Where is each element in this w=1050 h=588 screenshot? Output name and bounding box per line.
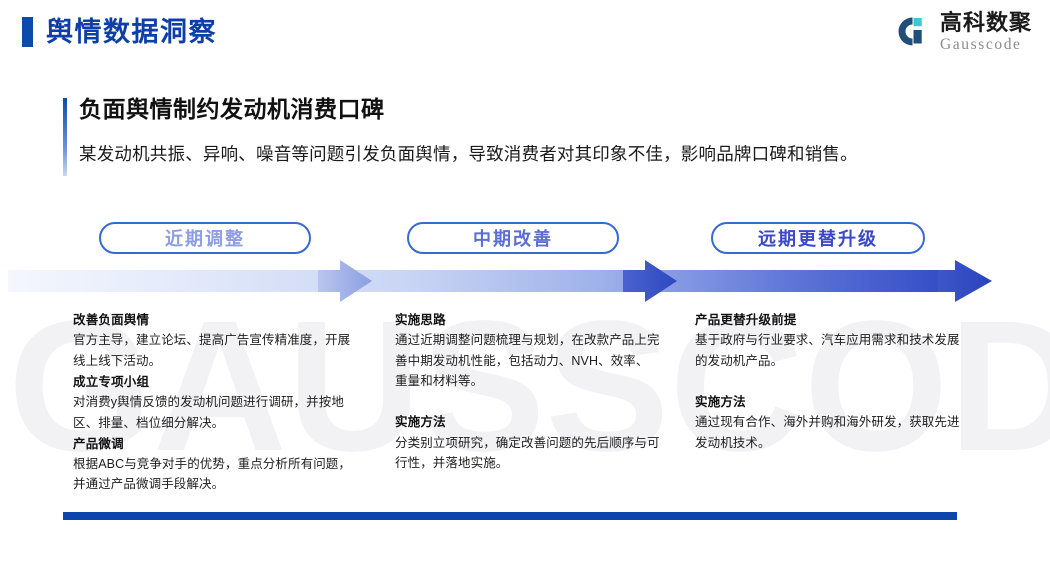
lead-block: 负面舆情制约发动机消费口碑 某发动机共振、异响、噪音等问题引发负面舆情，导致消费… [63, 96, 963, 165]
detail-block-title: 成立专项小组 [73, 373, 358, 392]
detail-block-title: 实施方法 [395, 413, 660, 432]
phase-pill-mid-term[interactable]: 中期改善 [407, 222, 619, 254]
phase-column-long-term: 产品更替升级前提 基于政府与行业要求、汽车应用需求和技术发展的发动机产品。 实施… [695, 311, 963, 455]
phase-pill-long-term[interactable]: 远期更替升级 [711, 222, 925, 254]
detail-block: 成立专项小组 对消费y舆情反馈的发动机问题进行调研，并按地区、排量、档位细分解决… [73, 373, 358, 433]
detail-block: 实施方法 通过现有合作、海外并购和海外研发，获取先进发动机技术。 [695, 393, 963, 453]
detail-block-title: 改善负面舆情 [73, 311, 358, 330]
detail-block: 实施方法 分类别立项研究，确定改善问题的先后顺序与可行性，并落地实施。 [395, 413, 660, 473]
detail-block-body: 官方主导，建立论坛、提高广告宣传精准度，开展线上线下活动。 [73, 330, 358, 371]
phase-pill-label: 中期改善 [473, 225, 553, 251]
phase-column-near-term: 改善负面舆情 官方主导，建立论坛、提高广告宣传精准度，开展线上线下活动。 成立专… [73, 311, 358, 497]
square-bullet-icon [22, 17, 33, 47]
phase-column-mid-term: 实施思路 通过近期调整问题梳理与规划，在改款产品上完善中期发动机性能，包括动力、… [395, 311, 660, 475]
header-title-group: 舆情数据洞察 [22, 17, 217, 47]
detail-block-title: 产品微调 [73, 435, 358, 454]
page-title: 舆情数据洞察 [46, 19, 217, 46]
phase-pill-near-term[interactable]: 近期调整 [99, 222, 311, 254]
detail-block: 实施思路 通过近期调整问题梳理与规划，在改款产品上完善中期发动机性能，包括动力、… [395, 311, 660, 391]
detail-block: 产品更替升级前提 基于政府与行业要求、汽车应用需求和技术发展的发动机产品。 [695, 311, 963, 371]
phase-pill-label: 近期调整 [165, 225, 245, 251]
detail-block-body: 分类别立项研究，确定改善问题的先后顺序与可行性，并落地实施。 [395, 433, 660, 474]
detail-block-title: 产品更替升级前提 [695, 311, 963, 330]
phase-detail-columns: 改善负面舆情 官方主导，建立论坛、提高广告宣传精准度，开展线上线下活动。 成立专… [0, 311, 1050, 501]
detail-block: 产品微调 根据ABC与竞争对手的优势，重点分析所有问题，并通过产品微调手段解决。 [73, 435, 358, 495]
footer-accent-bar [63, 512, 957, 520]
detail-block-body: 根据ABC与竞争对手的优势，重点分析所有问题，并通过产品微调手段解决。 [73, 454, 358, 495]
timeline-arrow [0, 258, 1050, 304]
detail-block-body: 对消费y舆情反馈的发动机问题进行调研，并按地区、排量、档位细分解决。 [73, 392, 358, 433]
detail-block: 改善负面舆情 官方主导，建立论坛、提高广告宣传精准度，开展线上线下活动。 [73, 311, 358, 371]
gausscode-g-mark-icon [893, 13, 931, 51]
detail-block-body: 基于政府与行业要求、汽车应用需求和技术发展的发动机产品。 [695, 330, 963, 371]
lead-subtitle: 某发动机共振、异响、噪音等问题引发负面舆情，导致消费者对其印象不佳，影响品牌口碑… [79, 143, 963, 166]
brand-name-en: Gausscode [940, 37, 1032, 53]
brand-logo-text: 高科数聚 Gausscode [940, 12, 1032, 53]
phase-pill-label: 远期更替升级 [758, 225, 878, 251]
detail-block-body: 通过近期调整问题梳理与规划，在改款产品上完善中期发动机性能，包括动力、NVH、效… [395, 330, 660, 391]
lead-heading: 负面舆情制约发动机消费口碑 [79, 96, 963, 124]
detail-block-title: 实施方法 [695, 393, 963, 412]
brand-logo: 高科数聚 Gausscode [893, 12, 1032, 53]
detail-block-body: 通过现有合作、海外并购和海外研发，获取先进发动机技术。 [695, 412, 963, 453]
lead-accent-bar [63, 98, 67, 176]
timeline-phase-labels: 近期调整 中期改善 远期更替升级 [0, 222, 1050, 256]
brand-name-cn: 高科数聚 [940, 12, 1032, 34]
detail-block-title: 实施思路 [395, 311, 660, 330]
page-header: 舆情数据洞察 高科数聚 Gausscode [0, 0, 1050, 72]
